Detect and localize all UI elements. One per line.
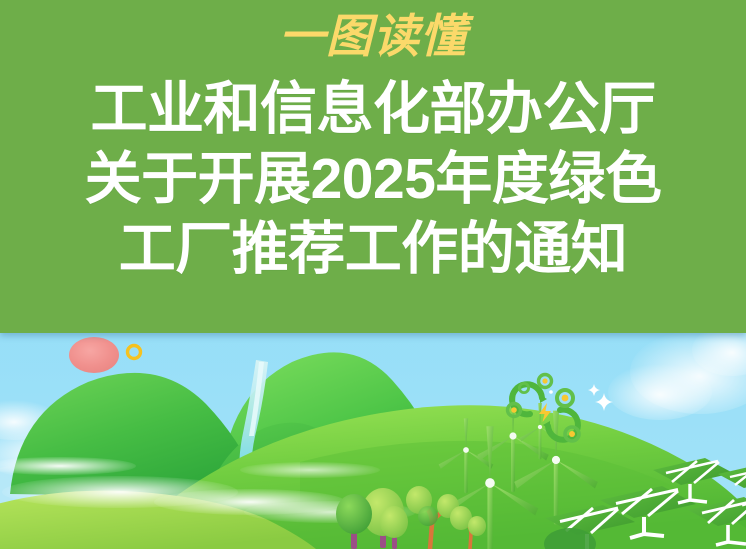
page-title: 工业和信息化部办公厅 关于开展2025年度绿色 工厂推荐工作的通知 <box>0 74 746 284</box>
title-line-2: 关于开展2025年度绿色 <box>0 144 746 214</box>
sparkle-icon <box>588 384 600 396</box>
title-line-3: 工厂推荐工作的通知 <box>0 214 746 284</box>
title-banner-inner: 一图读懂 工业和信息化部办公厅 关于开展2025年度绿色 工厂推荐工作的通知 <box>0 0 746 333</box>
title-banner: 一图读懂 工业和信息化部办公厅 关于开展2025年度绿色 工厂推荐工作的通知 <box>0 0 746 333</box>
recycle-icon-small <box>557 390 573 406</box>
kicker-label: 一图读懂 <box>0 8 746 64</box>
recycle-icon-small <box>519 383 528 392</box>
hill-shade-band <box>300 441 746 549</box>
sparkle-icon <box>549 390 553 394</box>
title-line-1: 工业和信息化部办公厅 <box>0 74 746 144</box>
yellow-ring-icon <box>128 346 141 359</box>
pink-cloud-blob <box>69 337 119 373</box>
recycle-icon-small <box>539 375 552 388</box>
infographic-poster: 一图读懂 工业和信息化部办公厅 关于开展2025年度绿色 工厂推荐工作的通知 <box>0 0 746 549</box>
